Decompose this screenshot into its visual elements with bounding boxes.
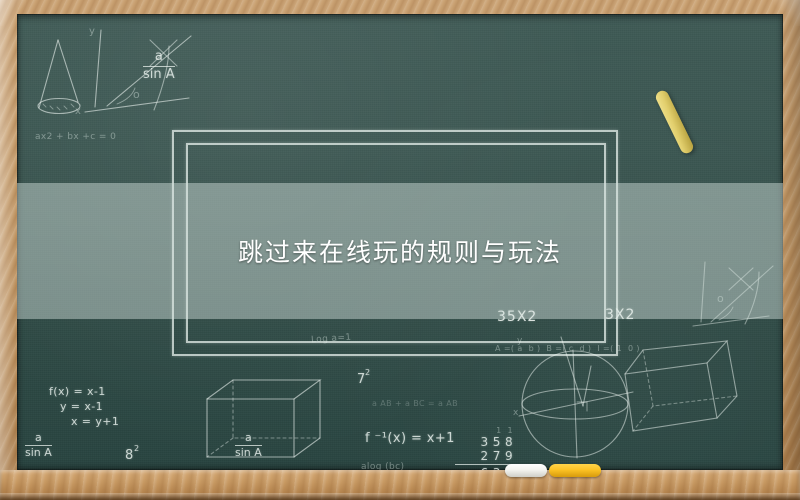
inverse-function-equation: f ⁻¹(x) = x+1: [365, 431, 455, 446]
ledge-lip: [0, 493, 800, 500]
faint-equation-bottom-left: a AB + a BC = a AB: [372, 399, 458, 408]
chalk-ledge: [0, 470, 800, 500]
log-product-label: alog (bc): [361, 462, 404, 470]
eight-squared-base: 8: [125, 448, 134, 463]
page-title: 跳过来在线玩的规则与玩法: [238, 233, 562, 269]
chalk-piece-white: [505, 464, 547, 477]
axis-label-x-bottom-right: x: [513, 408, 519, 418]
chalk-piece-yellow: [549, 464, 601, 477]
title-banner-band: 跳过来在线玩的规则与玩法: [17, 183, 783, 319]
function-lines-block: f(x) = x-1 y = x-1 x = y+1: [49, 384, 119, 429]
function-line-2: y = x-1: [49, 399, 119, 414]
addition-addend-1: 3 5 8: [455, 435, 513, 449]
quadratic-equation: ax2 + bx +c = 0: [35, 132, 116, 142]
cube-drawing-left: [207, 380, 320, 457]
long-addition-block: 1 1 3 5 8 2 7 9 6 3 7: [455, 426, 513, 470]
fraction-a-over-sinA-top: a sin A: [143, 50, 175, 82]
axis-label-y-top-left: y: [89, 26, 95, 37]
chalkboard-title-card: a sin A y x o ax2 + bx +c = 0 o f(x) = x…: [0, 0, 800, 500]
addition-carry-row: 1 1: [455, 426, 513, 435]
axis-label-x-top-left: x: [75, 106, 81, 117]
function-line-3: x = y+1: [49, 414, 119, 429]
fraction-a-over-sinA-left: a sin A: [25, 432, 52, 460]
fraction-a-over-sinA-center: a sin A: [235, 432, 262, 460]
function-line-1: f(x) = x-1: [49, 384, 119, 399]
cube-drawing-right: [625, 341, 737, 431]
angle-label-top-left: o: [133, 88, 140, 101]
seven-squared-exponent: 2: [365, 368, 371, 377]
eight-squared-exponent: 2: [134, 444, 140, 453]
addition-addend-2: 2 7 9: [455, 449, 513, 463]
cone-drawing: [38, 40, 80, 114]
addition-rule-line: [455, 464, 513, 465]
